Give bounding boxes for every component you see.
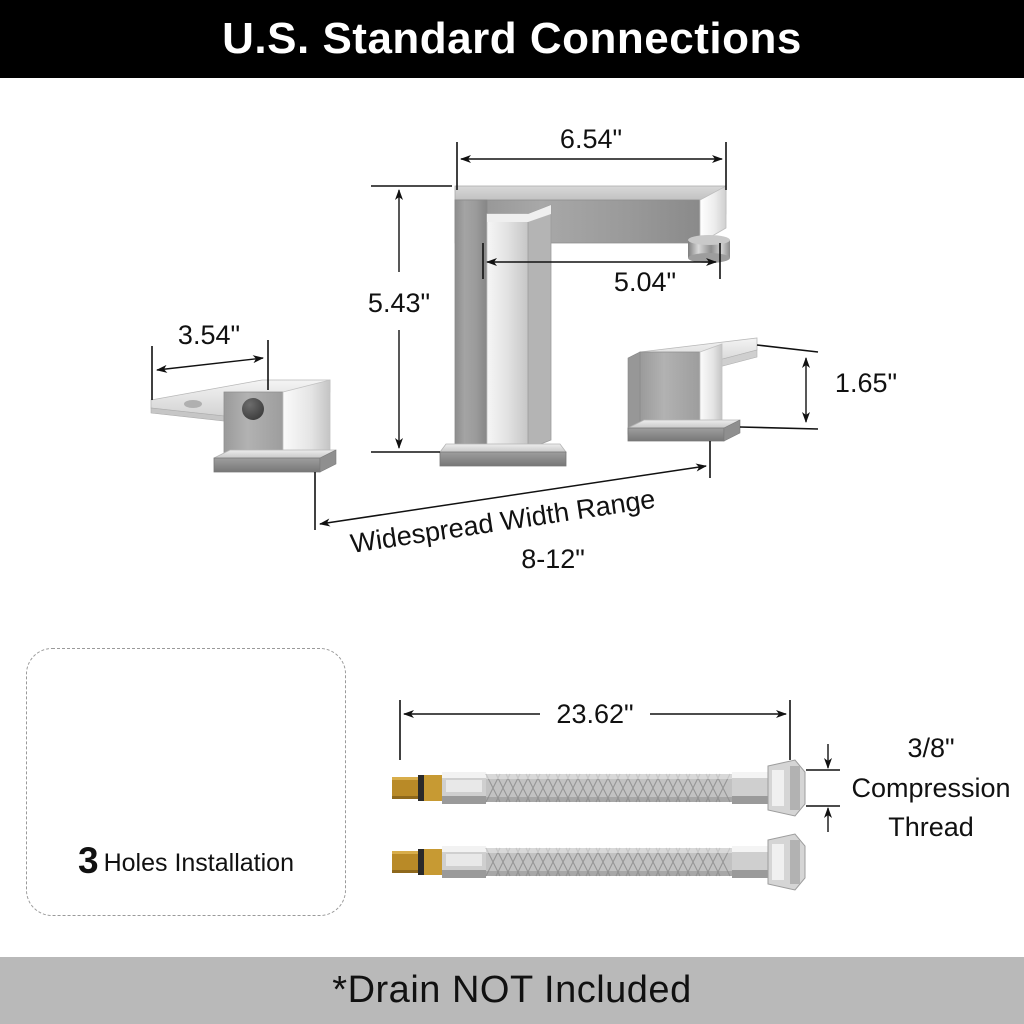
hose-compression-nut-bottom xyxy=(768,834,805,890)
dimension-label-widespread-range: Widespread Width Range xyxy=(348,484,657,559)
holes-installation-caption: 3Holes Installation xyxy=(26,840,346,882)
hose-compression-nut-top xyxy=(768,760,805,816)
dimension-thread-size xyxy=(806,744,840,832)
dimension-label-thread-type: Compression xyxy=(851,773,1010,803)
supply-hose-top xyxy=(392,760,805,816)
dimension-label-thread-size: 3/8" xyxy=(907,733,954,763)
dimension-label-handle-right-height: 1.65" xyxy=(835,368,897,398)
hose-brass-thread-top xyxy=(392,775,442,801)
dimension-spout-height xyxy=(371,186,452,452)
dimension-label-handle-left-width: 3.54" xyxy=(178,320,240,350)
holes-count: 3 xyxy=(78,840,99,881)
holes-label: Holes Installation xyxy=(104,849,294,877)
dimension-label-hose-length: 23.62" xyxy=(556,699,633,729)
dimension-label-spout-reach-top: 6.54" xyxy=(560,124,622,154)
dimension-label-widespread-value: 8-12" xyxy=(521,544,585,574)
dimension-label-spout-reach-outlet: 5.04" xyxy=(614,267,676,297)
footer-bar: *Drain NOT Included xyxy=(0,957,1024,1024)
hose-brass-thread-bottom xyxy=(392,849,442,875)
dimension-label-spout-height: 5.43" xyxy=(368,288,430,318)
spec-sheet-page: U.S. Standard Connections xyxy=(0,0,1024,1024)
faucet-handle-left xyxy=(151,380,336,472)
aerator xyxy=(688,235,730,263)
footer-note: *Drain NOT Included xyxy=(332,969,691,1012)
faucet-handle-right xyxy=(628,338,757,441)
supply-hose-bottom xyxy=(392,834,805,890)
dimension-label-thread-word: Thread xyxy=(888,812,974,842)
